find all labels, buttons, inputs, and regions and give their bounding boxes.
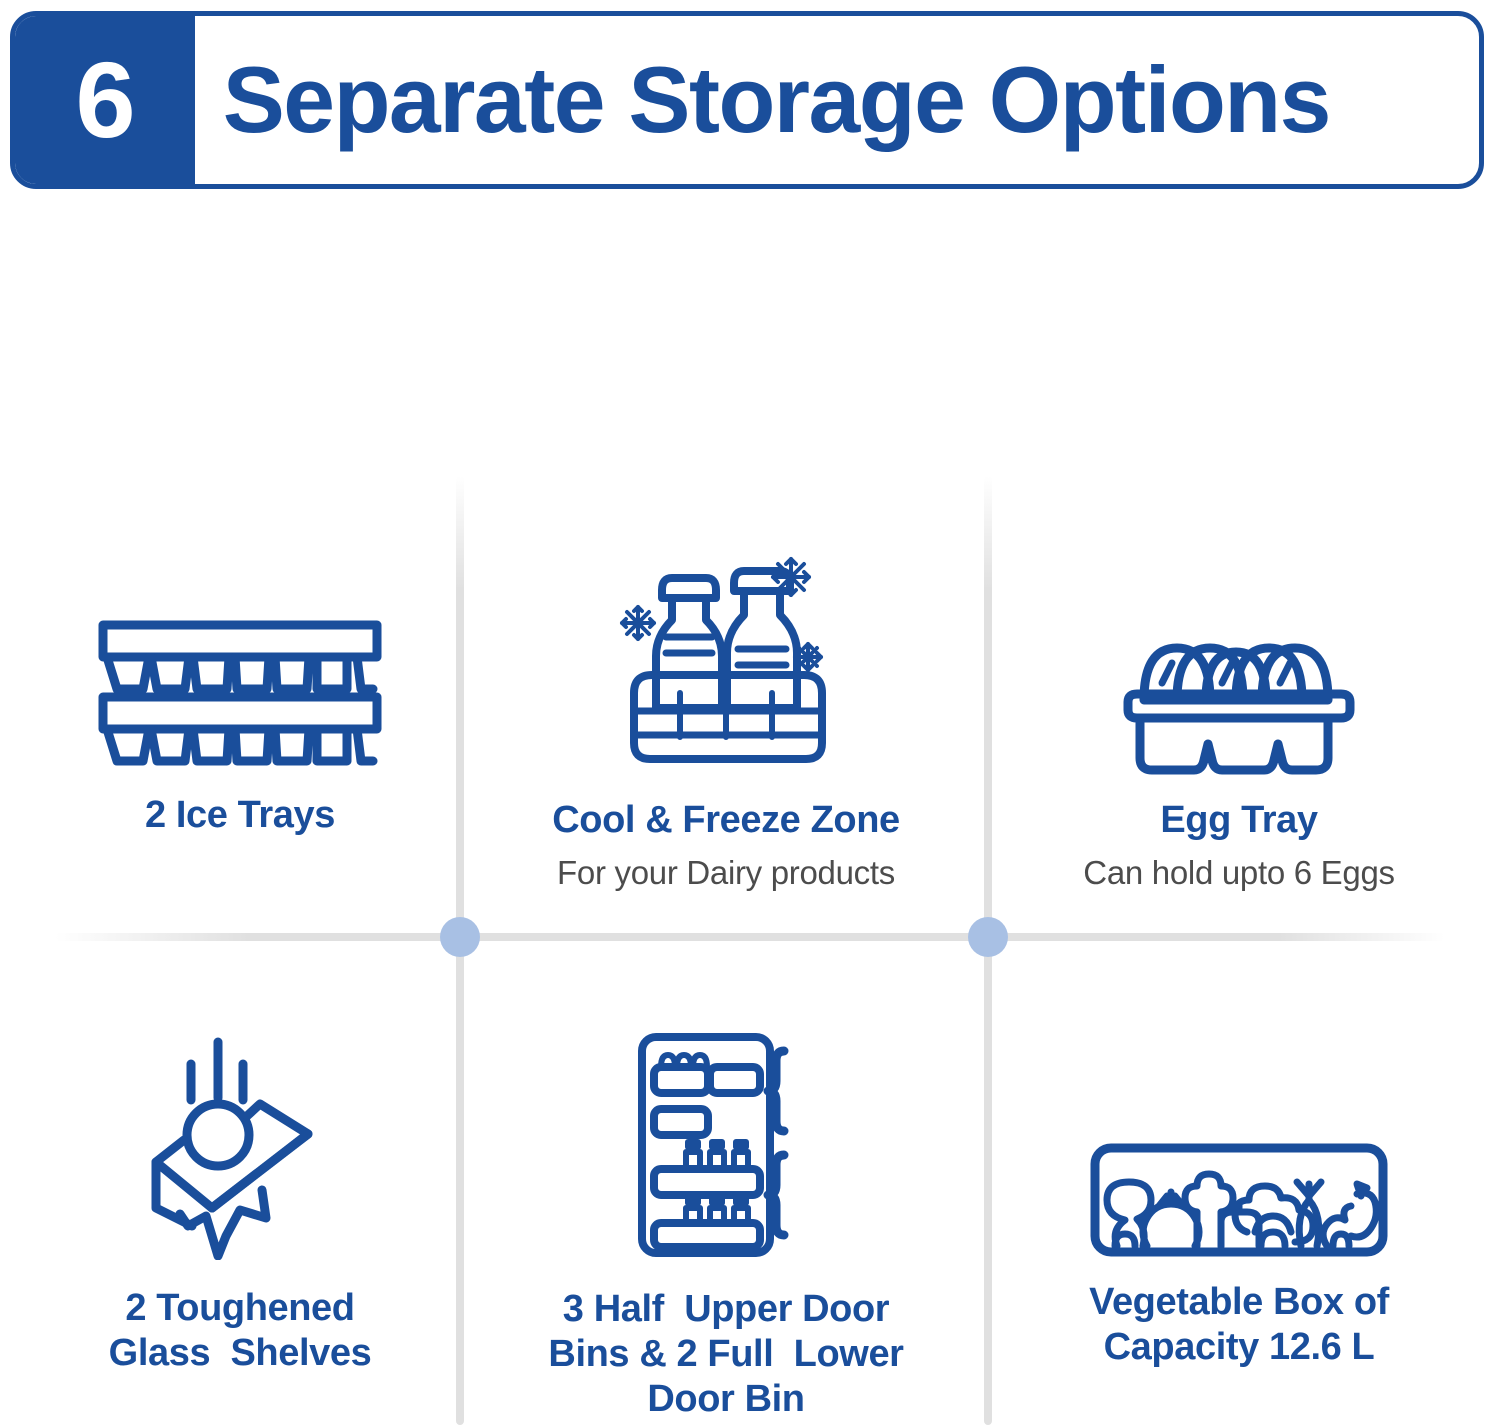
grid-node-dot-right: [968, 917, 1008, 957]
header-step-number: 6: [15, 16, 195, 184]
header-banner: 6 Separate Storage Options: [10, 11, 1484, 189]
feature-cell-door-bins: 3 Half Upper Door Bins & 2 Full Lower Do…: [476, 1025, 976, 1421]
feature-title: Egg Tray: [1160, 798, 1317, 843]
feature-cell-cool-freeze-zone: Cool & Freeze Zone For your Dairy produc…: [476, 545, 976, 892]
ice-tray-icon: [95, 615, 385, 775]
grid-node-dot-left: [440, 917, 480, 957]
feature-title: Cool & Freeze Zone: [552, 798, 900, 843]
feature-cell-ice-trays: 2 Ice Trays: [20, 615, 460, 838]
feature-cell-toughened-glass: 2 Toughened Glass Shelves: [20, 1030, 460, 1376]
page-title: Separate Storage Options: [195, 16, 1466, 184]
feature-title: 3 Half Upper Door Bins & 2 Full Lower Do…: [548, 1287, 903, 1421]
fridge-door-bins-icon: [626, 1025, 826, 1265]
milk-bottles-crate-icon: [616, 545, 836, 780]
feature-title: Vegetable Box of Capacity 12.6 L: [1089, 1280, 1389, 1370]
vegetable-crisper-box-icon: [1089, 1140, 1389, 1260]
feature-cell-egg-tray: Egg Tray Can hold upto 6 Eggs: [1004, 605, 1474, 892]
feature-title: 2 Ice Trays: [145, 793, 335, 838]
feature-title: 2 Toughened Glass Shelves: [109, 1286, 372, 1376]
toughened-glass-impact-icon: [140, 1030, 340, 1260]
grid-divider-horizontal: [55, 933, 1445, 941]
feature-subtitle: For your Dairy products: [557, 853, 895, 893]
feature-subtitle: Can hold upto 6 Eggs: [1083, 853, 1394, 893]
egg-carton-icon: [1114, 605, 1364, 780]
feature-cell-vegetable-box: Vegetable Box of Capacity 12.6 L: [1004, 1140, 1474, 1370]
